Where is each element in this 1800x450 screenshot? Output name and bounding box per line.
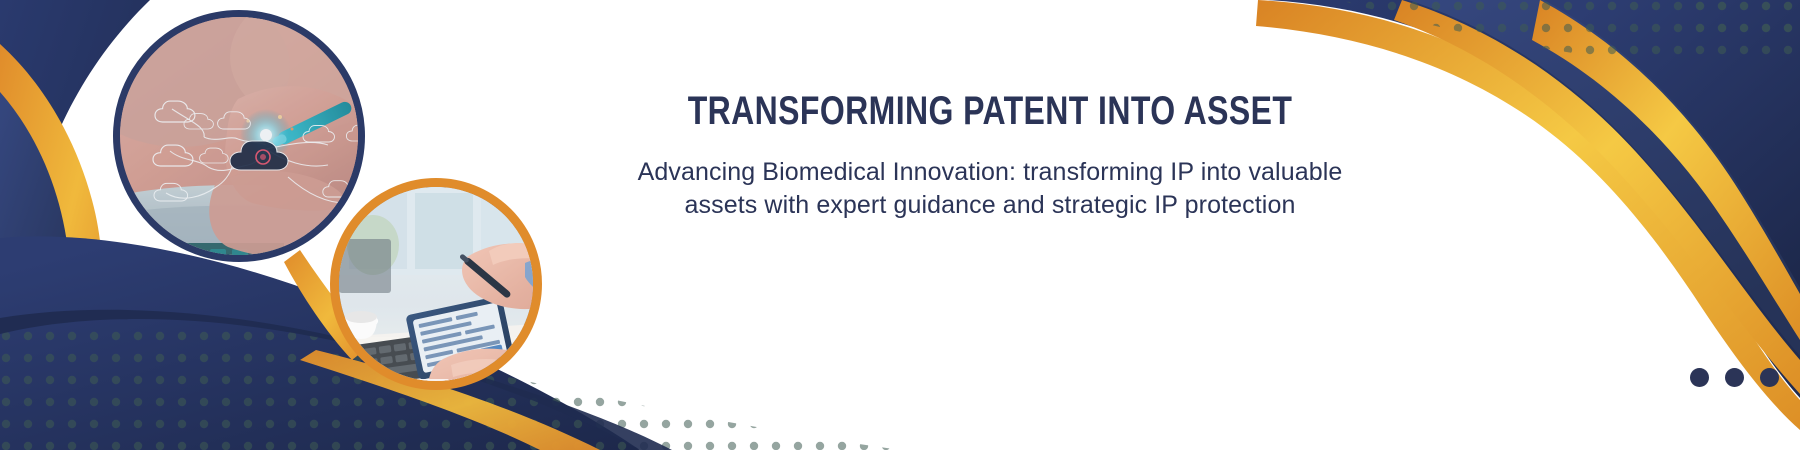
right-gold-ribbon-2: [1394, 0, 1800, 394]
page-title: TRANSFORMING PATENT INTO ASSET: [646, 88, 1334, 134]
headline-block: TRANSFORMING PATENT INTO ASSET Advancing…: [560, 88, 1420, 222]
left-navy-crest: [0, 310, 672, 450]
hero-image-circle-large: [113, 10, 365, 262]
dot-3: [1760, 368, 1779, 387]
right-navy-ribbon-2: [1408, 0, 1800, 356]
left-gold-band: [0, 44, 102, 450]
page-subtitle: Advancing Biomedical Innovation: transfo…: [560, 156, 1420, 222]
right-navy-ribbon-3: [1544, 0, 1800, 288]
subtitle-line-2: assets with expert guidance and strategi…: [560, 189, 1420, 222]
hand-stylus-cloud-network-photo: [120, 17, 358, 255]
banner-root: TRANSFORMING PATENT INTO ASSET Advancing…: [0, 0, 1800, 450]
decorative-dots-group: [1690, 368, 1779, 387]
hero-image-circle-small: [330, 178, 542, 390]
office-tablet-calculator-photo: [339, 187, 533, 381]
left-navy-lower-sweep: [0, 236, 640, 450]
subtitle-line-1: Advancing Biomedical Innovation: transfo…: [560, 156, 1420, 189]
right-gold-ribbon-3: [1532, 0, 1800, 340]
dot-1: [1690, 368, 1709, 387]
left-navy-wave-2: [0, 92, 71, 450]
right-dot-pattern: [1300, 0, 1800, 90]
left-gold-wave-outer: [0, 0, 108, 206]
dot-2: [1725, 368, 1744, 387]
right-dot-strip: [1690, 0, 1800, 34]
